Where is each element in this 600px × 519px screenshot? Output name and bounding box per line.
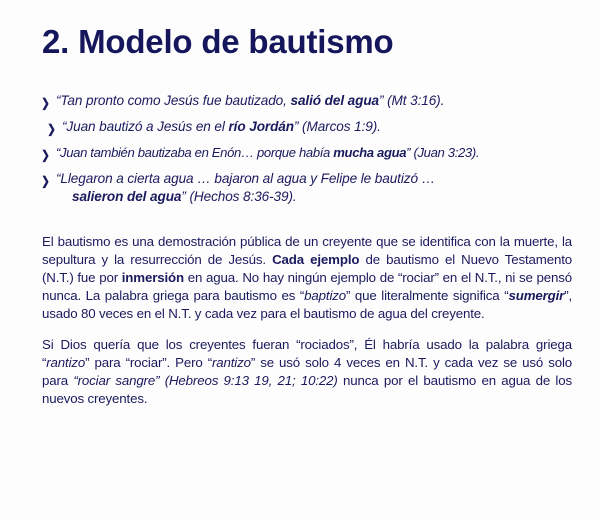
list-item: ❯ “Llegaron a cierta agua … bajaron al a… (40, 170, 580, 206)
quote-reference: ” (Marcos 1:9). (294, 119, 381, 134)
list-item: ❯ “Tan pronto como Jesús fue bautizado, … (40, 92, 580, 114)
chevron-right-icon: ❯ (41, 144, 55, 166)
text-run-italic: baptizo (304, 288, 346, 303)
quote-open: “Tan pronto como Jesús fue bautizado, (56, 93, 291, 108)
quote-emphasis: mucha agua (333, 145, 406, 160)
scripture-bullet-list: ❯ “Tan pronto como Jesús fue bautizado, … (40, 92, 580, 210)
text-run: ” para “rociar”. Pero “ (85, 355, 212, 370)
quote-reference: ” (Hechos 8:36-39). (181, 189, 296, 204)
text-run-italic: “rociar sangre” (Hebreos 9:13 19, 21; 10… (73, 373, 337, 388)
quote-emphasis: río Jordán (228, 119, 293, 134)
chevron-right-icon: ❯ (41, 170, 55, 192)
paragraph-immersion: El bautismo es una demostración pública … (42, 233, 572, 322)
text-run-bold: inmersión (122, 270, 184, 285)
list-item-text: “Juan bautizó a Jesús en el río Jordán” … (62, 118, 580, 136)
paragraph-rantizo: Si Dios quería que los creyentes fueran … (42, 336, 572, 408)
quote-open: “Llegaron a cierta agua … bajaron al agu… (56, 171, 435, 186)
list-item: ❯ “Juan también bautizaba en Enón… porqu… (40, 144, 580, 166)
quote-emphasis: salió del agua (291, 93, 380, 108)
list-item-text: “Tan pronto como Jesús fue bautizado, sa… (56, 92, 580, 110)
text-run-bold-italic: sumergir (508, 288, 564, 303)
chevron-right-icon: ❯ (47, 118, 61, 140)
chevron-right-icon: ❯ (41, 92, 55, 114)
page-title: 2. Modelo de bautismo (42, 24, 394, 60)
text-run-bold: Cada ejemplo (272, 252, 359, 267)
text-run-italic: rantizo (46, 355, 85, 370)
quote-emphasis: salieron del agua (72, 189, 181, 204)
quote-open: “Juan también bautizaba en Enón… porque … (56, 145, 333, 160)
quote-open: “Juan bautizó a Jesús en el (62, 119, 228, 134)
text-run: ” que literalmente significa “ (346, 288, 508, 303)
body-copy: El bautismo es una demostración pública … (42, 233, 572, 408)
quote-reference: ” (Juan 3:23). (406, 145, 479, 160)
list-item-text: “Llegaron a cierta agua … bajaron al agu… (56, 170, 580, 206)
slide: 2. Modelo de bautismo ❯ “Tan pronto como… (0, 0, 600, 519)
quote-reference: ” (Mt 3:16). (379, 93, 444, 108)
list-item: ❯ “Juan bautizó a Jesús en el río Jordán… (40, 118, 580, 140)
text-run-italic: rantizo (212, 355, 251, 370)
quote-second-line: salieron del agua” (Hechos 8:36-39). (56, 188, 580, 206)
list-item-text: “Juan también bautizaba en Enón… porque … (56, 144, 580, 161)
